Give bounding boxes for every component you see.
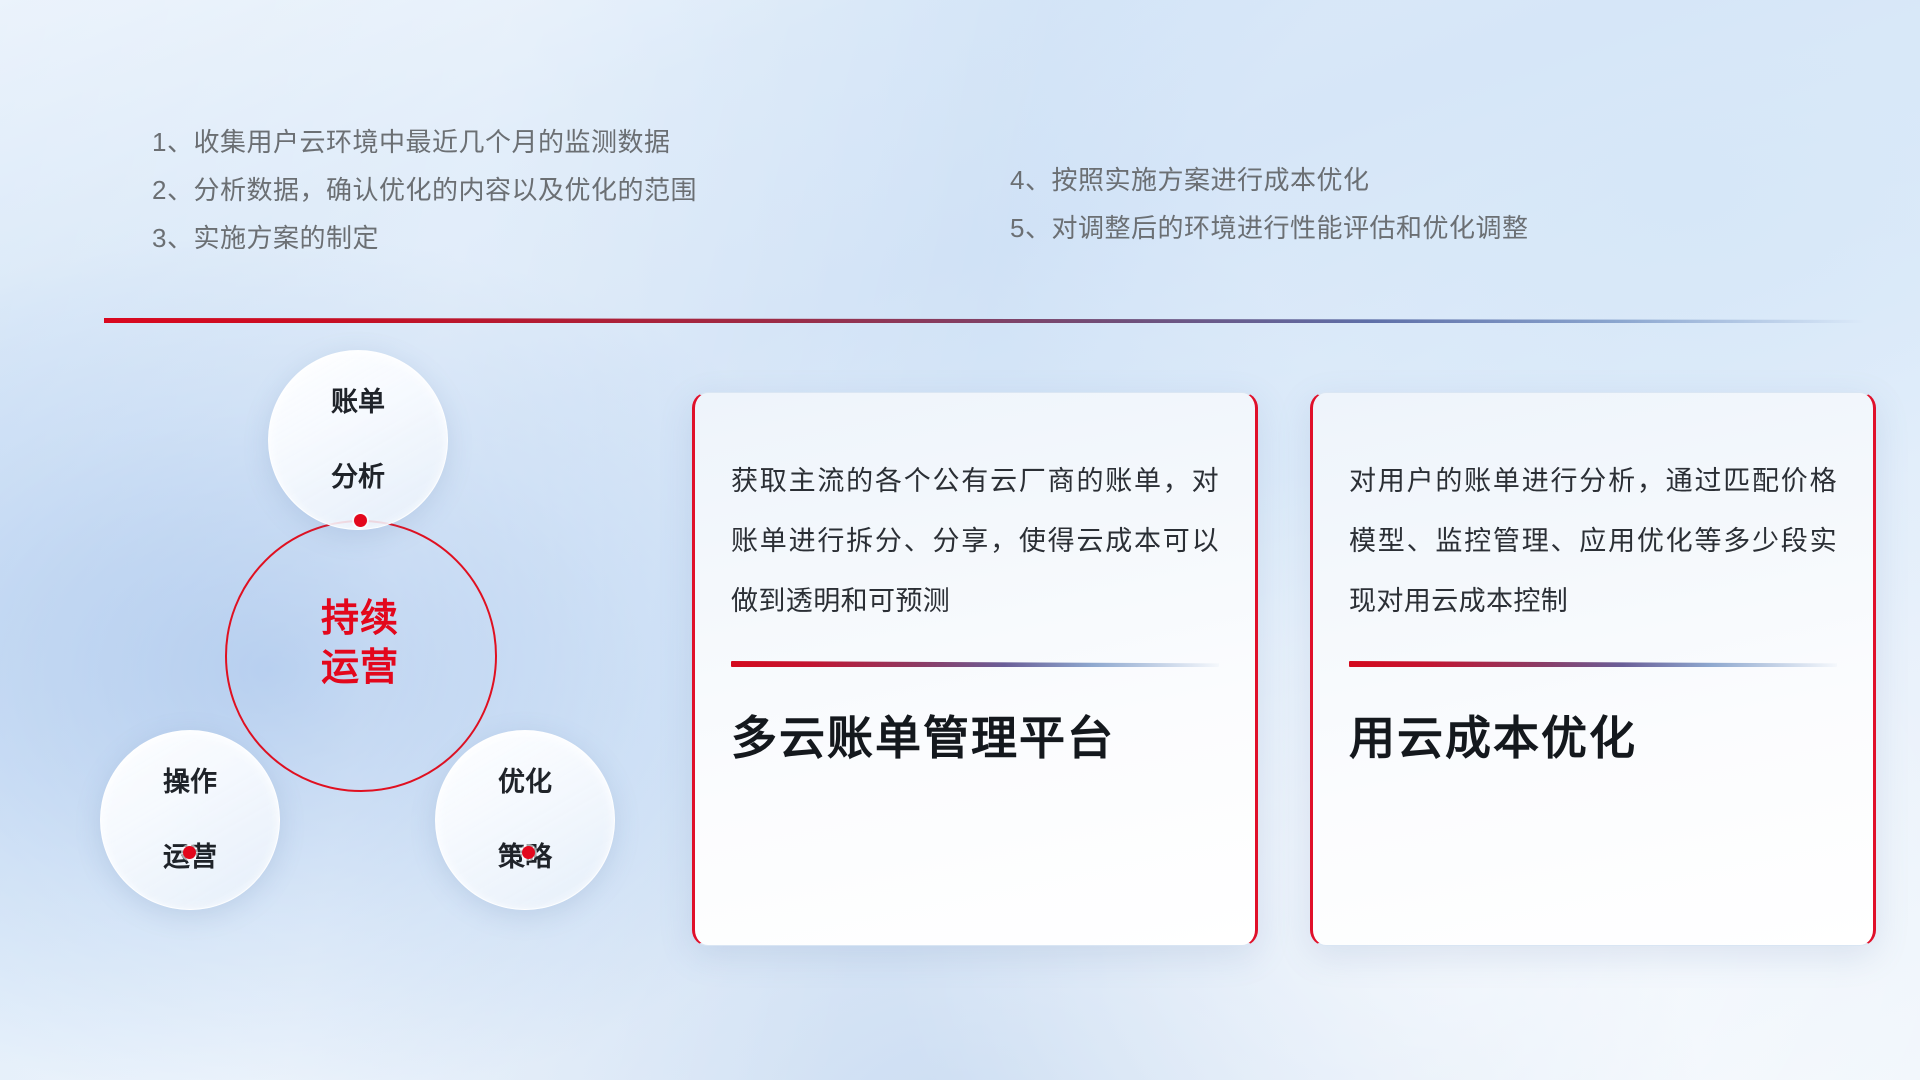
venn-node-billing-analysis-label: 账单 分析 <box>331 384 385 496</box>
feature-card-1-rule <box>731 661 1219 667</box>
bullet-list-right: 4、按照实施方案进行成本优化 5、对调整后的环境进行性能评估和优化调整 <box>1010 156 1528 252</box>
bullet-item-1: 1、收集用户云环境中最近几个月的监测数据 <box>152 118 697 166</box>
venn-node-operations-label: 操作 运营 <box>163 764 217 876</box>
bullet-item-5: 5、对调整后的环境进行性能评估和优化调整 <box>1010 204 1528 252</box>
venn-center-label: 持续 运营 <box>270 595 450 692</box>
feature-card-1-body: 获取主流的各个公有云厂商的账单，对账单进行拆分、分享，使得云成本可以做到透明和可… <box>731 451 1219 631</box>
slide-canvas: 1、收集用户云环境中最近几个月的监测数据 2、分析数据，确认优化的内容以及优化的… <box>0 0 1920 1080</box>
feature-card-multicloud-billing[interactable]: 获取主流的各个公有云厂商的账单，对账单进行拆分、分享，使得云成本可以做到透明和可… <box>692 392 1258 946</box>
bullet-item-2: 2、分析数据，确认优化的内容以及优化的范围 <box>152 166 697 214</box>
bullet-list-left: 1、收集用户云环境中最近几个月的监测数据 2、分析数据，确认优化的内容以及优化的… <box>152 118 697 262</box>
venn-node-billing-analysis[interactable]: 账单 分析 <box>268 350 448 530</box>
feature-card-2-rule <box>1349 661 1837 667</box>
venn-connector-dot-right <box>522 846 535 859</box>
venn-node-0-line-1: 账单 <box>331 384 385 421</box>
venn-node-optimization-strategy[interactable]: 优化 策略 <box>435 730 615 910</box>
venn-node-1-line-1: 操作 <box>163 764 217 801</box>
venn-node-optimization-strategy-label: 优化 策略 <box>498 764 552 876</box>
venn-node-2-line-1: 优化 <box>498 764 552 801</box>
venn-center-line-2: 运营 <box>270 644 450 693</box>
venn-node-operations[interactable]: 操作 运营 <box>100 730 280 910</box>
feature-card-2-title: 用云成本优化 <box>1349 713 1837 764</box>
venn-node-0-line-2: 分析 <box>331 459 385 496</box>
bullet-item-4: 4、按照实施方案进行成本优化 <box>1010 156 1528 204</box>
feature-card-2-body: 对用户的账单进行分析，通过匹配价格模型、监控管理、应用优化等多少段实现对用云成本… <box>1349 451 1837 631</box>
venn-connector-dot-top <box>354 514 367 527</box>
feature-card-cost-optimization[interactable]: 对用户的账单进行分析，通过匹配价格模型、监控管理、应用优化等多少段实现对用云成本… <box>1310 392 1876 946</box>
bullet-item-3: 3、实施方案的制定 <box>152 214 697 262</box>
section-divider <box>104 318 1864 323</box>
venn-center-line-1: 持续 <box>270 595 450 644</box>
venn-connector-dot-left <box>183 846 196 859</box>
feature-card-1-title: 多云账单管理平台 <box>731 713 1219 764</box>
venn-diagram: 持续 运营 账单 分析 操作 运营 优化 策略 <box>90 350 650 950</box>
